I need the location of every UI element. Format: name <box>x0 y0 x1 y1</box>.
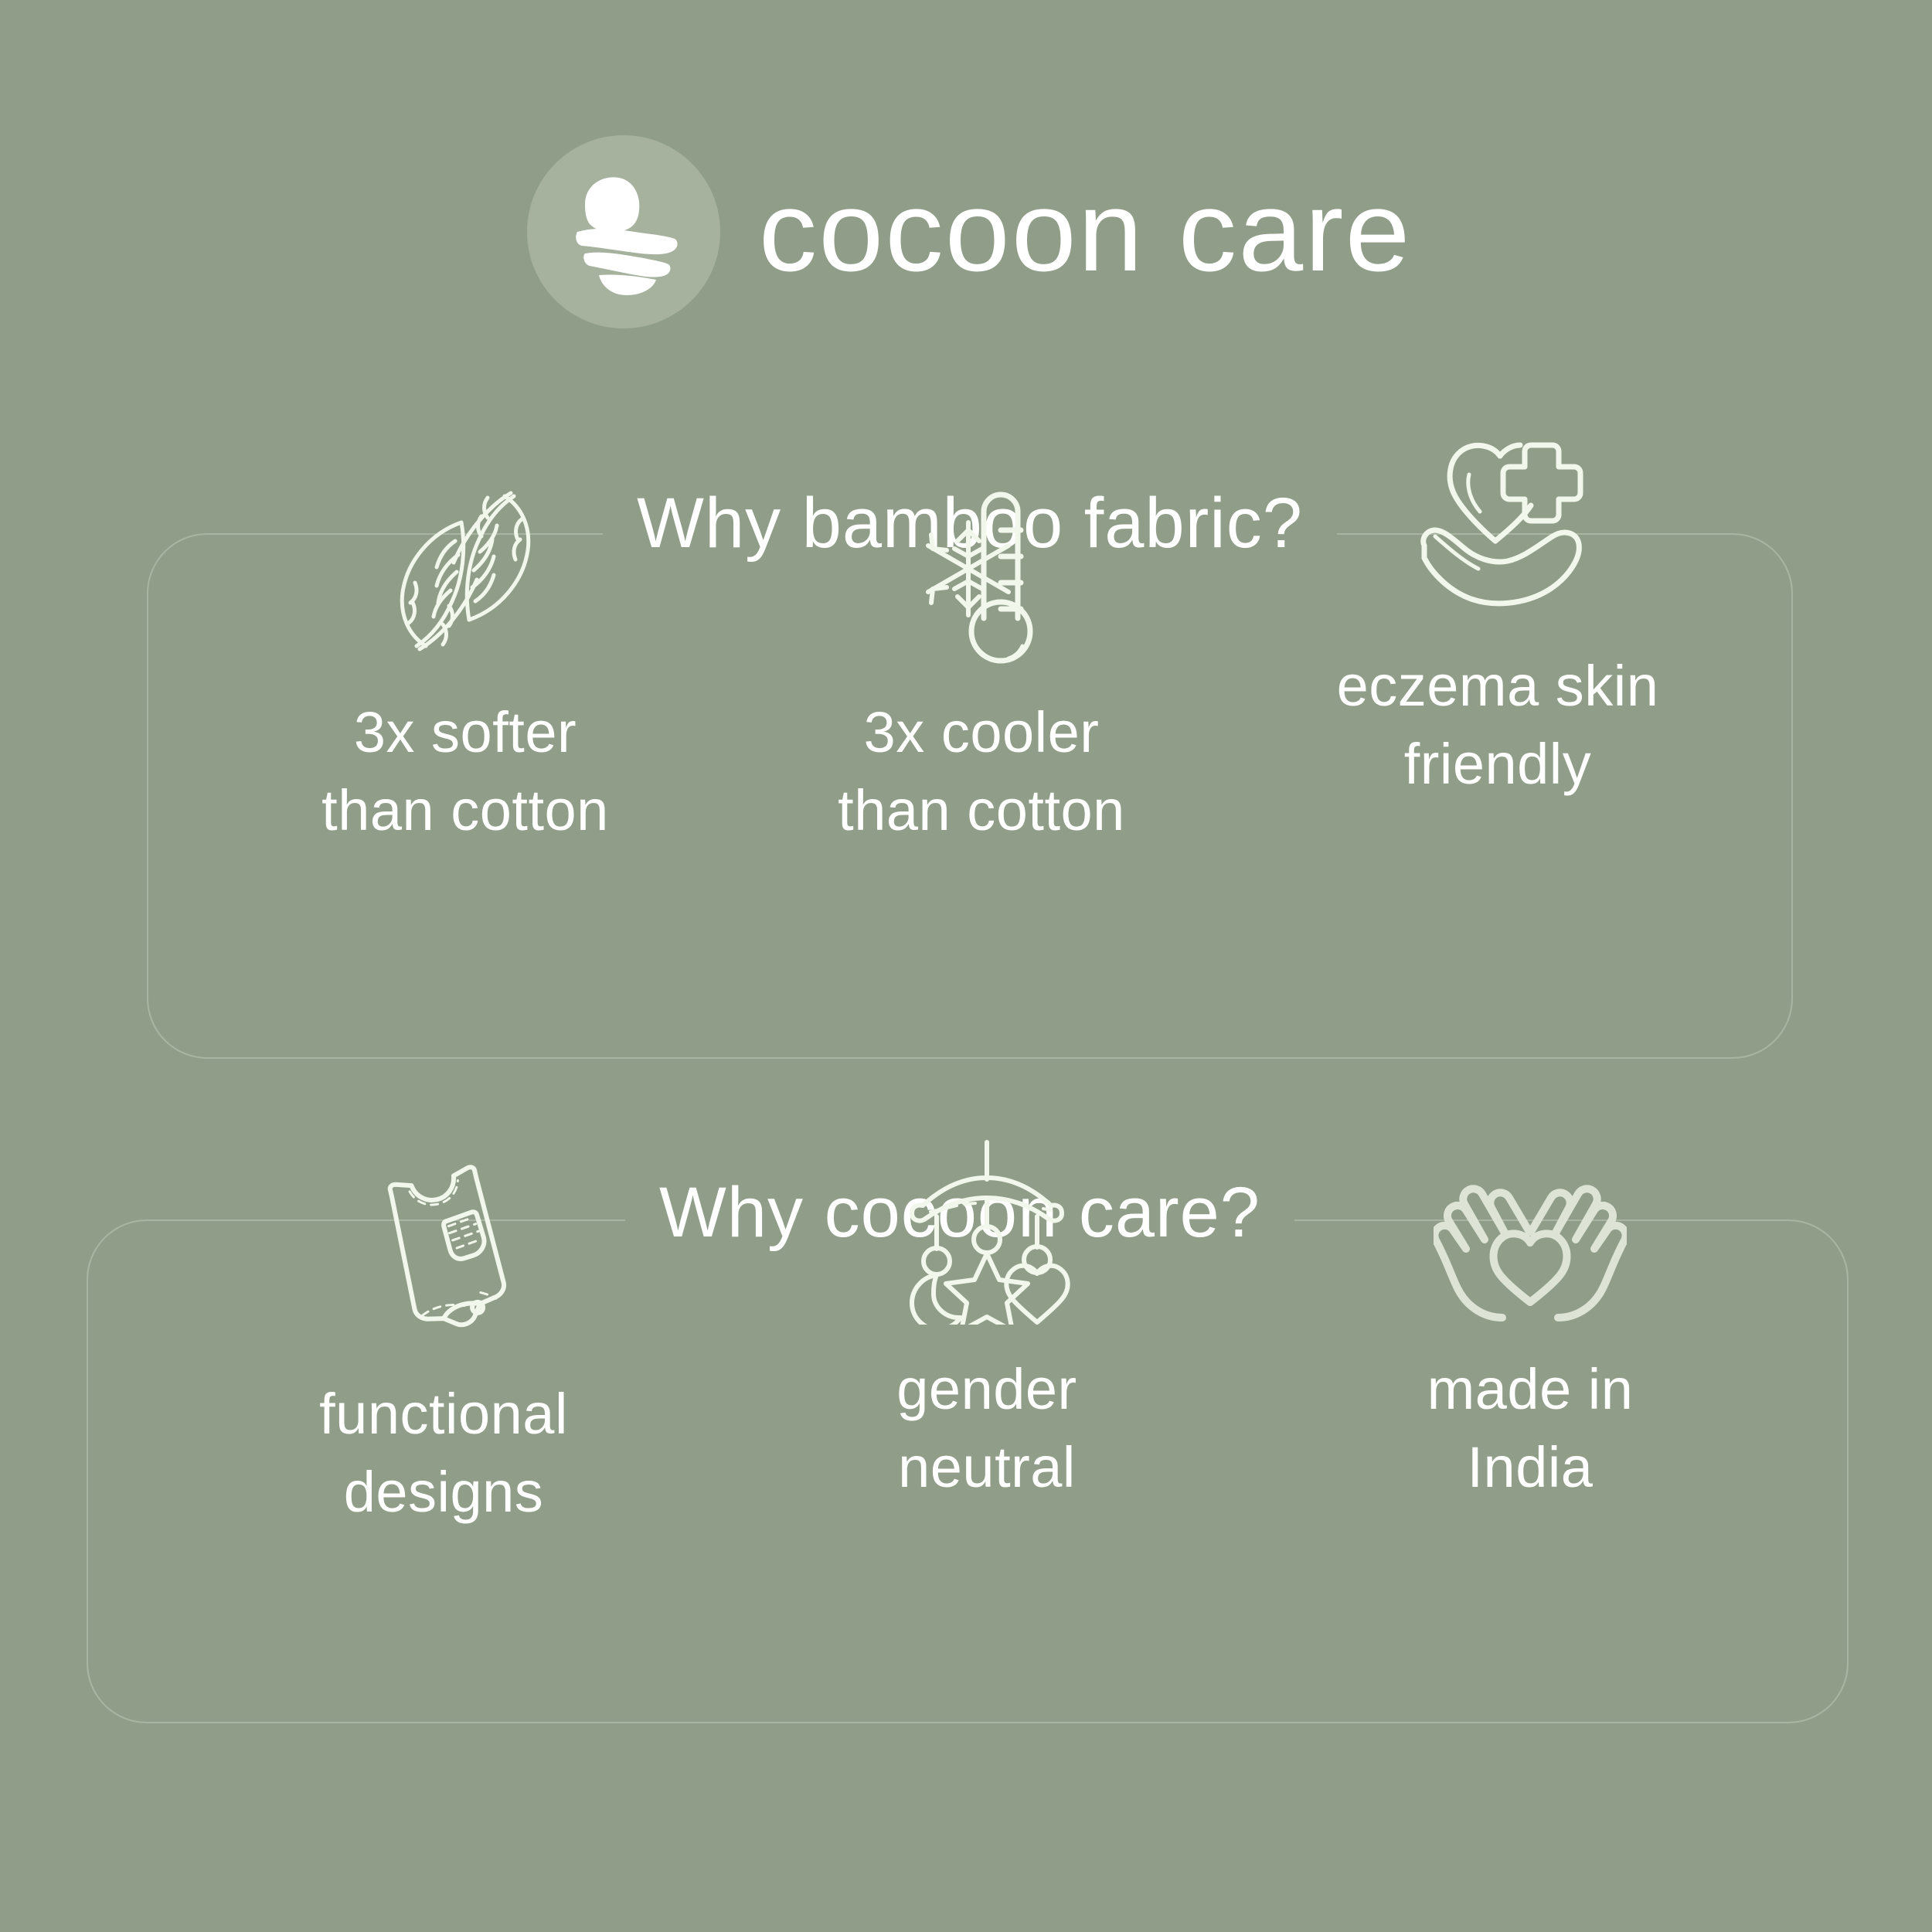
feature-item-softer: 3x softer than cotton <box>264 474 666 849</box>
feature-item-gender-neutral: gender neutral <box>786 1131 1188 1506</box>
hands-heart-icon <box>1434 1131 1627 1325</box>
brand-wordmark: cocoon care <box>759 175 1412 289</box>
feature-item-eczema: eczema skin friendly <box>1297 428 1699 803</box>
feature-item-cooler: 3x cooler than cotton <box>781 474 1182 849</box>
feature-grid-bamboo-fabric: 3x softer than cotton <box>148 442 1791 849</box>
section-card-bamboo-fabric: Why bamboo fabric? <box>147 533 1793 1059</box>
section-card-cocoon-care: Why cocoon care? <box>87 1219 1849 1723</box>
feature-label-softer: 3x softer than cotton <box>321 694 609 849</box>
feature-label-gender-neutral: gender neutral <box>896 1351 1077 1506</box>
feature-label-eczema: eczema skin friendly <box>1337 648 1659 803</box>
feature-grid-cocoon-care: functional designs <box>88 1136 1847 1531</box>
baby-onesie-icon <box>347 1156 540 1349</box>
cocoon-leaf-mark-icon <box>527 135 720 328</box>
thermometer-snowflake-icon <box>885 474 1078 668</box>
feathers-icon <box>369 474 562 668</box>
feature-item-made-in-india: made in India <box>1329 1131 1731 1506</box>
feature-item-functional-designs: functional designs <box>243 1156 645 1531</box>
hand-heart-plus-icon <box>1401 428 1594 621</box>
feature-label-functional-designs: functional designs <box>319 1376 568 1531</box>
crib-mobile-icon <box>890 1131 1083 1325</box>
feature-label-made-in-india: made in India <box>1427 1351 1634 1506</box>
brand-header: cocoon care <box>0 135 1932 328</box>
feature-label-cooler: 3x cooler than cotton <box>838 694 1125 849</box>
